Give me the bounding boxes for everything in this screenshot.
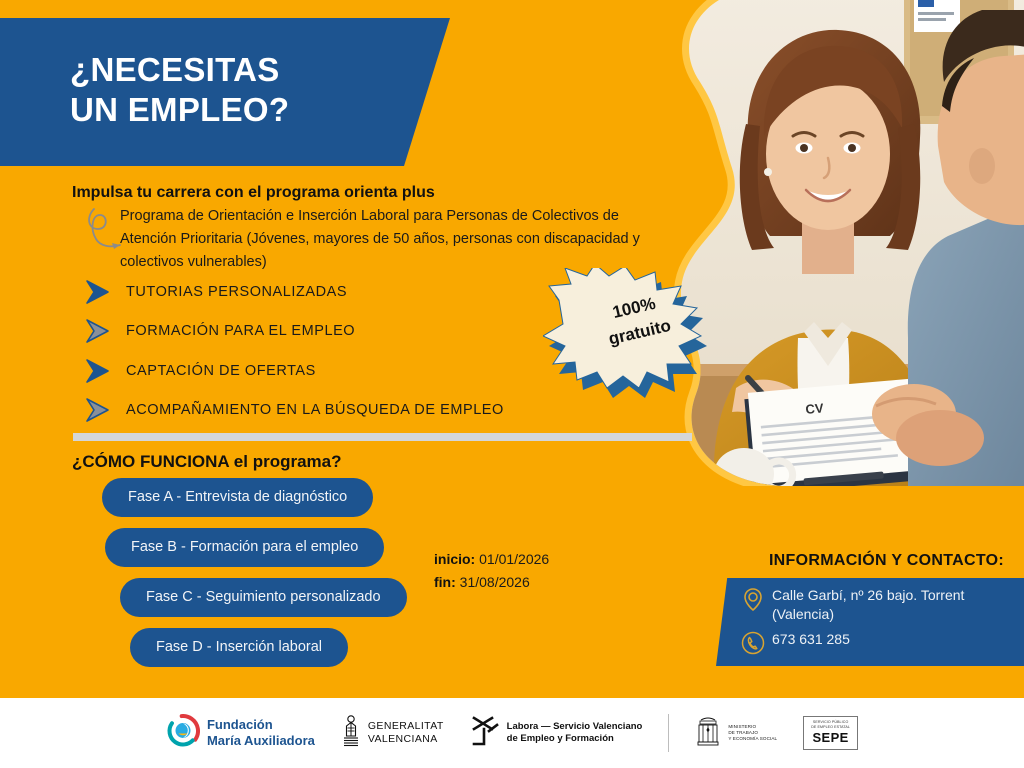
labora-label: Labora — Servicio Valenciano de Empleo y…: [507, 721, 643, 745]
address-row: Calle Garbí, nº 26 bajo. Torrent (Valenc…: [738, 586, 1018, 624]
logo-fundacion-maria-auxiliadora: Fundación María Auxiliadora: [166, 714, 315, 753]
chevron-right-icon: [84, 358, 118, 384]
feature-item: TUTORIAS PERSONALIZADAS: [84, 272, 604, 312]
end-date-value: 31/08/2026: [460, 574, 530, 590]
end-date-row: fin: 31/08/2026: [434, 571, 549, 594]
program-dates: inicio: 01/01/2026 fin: 31/08/2026: [434, 548, 549, 593]
chevron-right-icon: [84, 397, 118, 423]
feature-item: CAPTACIÓN DE OFERTAS: [84, 351, 604, 391]
feature-list: TUTORIAS PERSONALIZADAS FORMACIÓN PARA E…: [84, 272, 604, 430]
phase-pill-c[interactable]: Fase C - Seguimiento personalizado: [120, 578, 407, 617]
feature-label: CAPTACIÓN DE OFERTAS: [126, 363, 316, 379]
feature-item: ACOMPAÑAMIENTO EN LA BÚSQUEDA DE EMPLEO: [84, 391, 604, 431]
phone-text: 673 631 285: [772, 630, 850, 649]
logo-ministerio: MINISTERIO DE TRABAJO Y ECONOMÍA SOCIAL: [695, 714, 777, 753]
generalitat-label: GENERALITAT VALENCIANA: [368, 720, 444, 746]
feature-label: FORMACIÓN PARA EL EMPLEO: [126, 323, 355, 339]
ministerio-label: MINISTERIO DE TRABAJO Y ECONOMÍA SOCIAL: [728, 724, 777, 742]
phase-pill-a[interactable]: Fase A - Entrevista de diagnóstico: [102, 478, 373, 517]
chevron-right-icon: [84, 318, 118, 344]
how-it-works-title: ¿CÓMO FUNCIONA el programa?: [72, 452, 342, 472]
page-title: ¿NECESITAS UN EMPLEO?: [70, 50, 289, 131]
feature-item: FORMACIÓN PARA EL EMPLEO: [84, 312, 604, 352]
logo-sepe: SERVICIO PÚBLICO DE EMPLEO ESTATAL SEPE: [803, 716, 858, 751]
feature-label: ACOMPAÑAMIENTO EN LA BÚSQUEDA DE EMPLEO: [126, 402, 504, 418]
footer-divider: [668, 714, 669, 752]
feature-label: TUTORIAS PERSONALIZADAS: [126, 284, 347, 300]
ministerio-crest-icon: [695, 714, 721, 753]
chevron-right-icon: [84, 279, 118, 305]
phase-pill-b[interactable]: Fase B - Formación para el empleo: [105, 528, 384, 567]
section-divider: [73, 433, 692, 441]
fundacion-swirl-icon: [166, 714, 200, 753]
sepe-title: SEPE: [811, 730, 850, 745]
logo-labora: Labora — Servicio Valenciano de Empleo y…: [470, 714, 643, 753]
logo-generalitat-valenciana: GENERALITAT VALENCIANA: [341, 714, 444, 753]
start-date-value: 01/01/2026: [479, 551, 549, 567]
generalitat-crest-icon: [341, 714, 361, 753]
location-pin-icon: [738, 584, 768, 614]
phone-row[interactable]: 673 631 285: [738, 630, 1018, 658]
start-date-row: inicio: 01/01/2026: [434, 548, 549, 571]
svg-text:CV: CV: [805, 400, 825, 417]
phase-list: Fase A - Entrevista de diagnóstico Fase …: [0, 478, 407, 678]
contact-title: INFORMACIÓN Y CONTACTO:: [769, 552, 1004, 570]
phone-icon: [738, 628, 768, 658]
labora-mark-icon: [470, 714, 500, 753]
fundacion-label: Fundación María Auxiliadora: [207, 717, 315, 748]
end-date-label: fin:: [434, 574, 456, 590]
contact-details: Calle Garbí, nº 26 bajo. Torrent (Valenc…: [738, 586, 1018, 664]
lead-headline: Impulsa tu carrera con el programa orien…: [72, 184, 672, 202]
sepe-subtitle: SERVICIO PÚBLICO DE EMPLEO ESTATAL: [811, 720, 850, 730]
address-text: Calle Garbí, nº 26 bajo. Torrent (Valenc…: [772, 586, 1018, 624]
counseling-photo: CV: [652, 0, 1024, 486]
start-date-label: inicio:: [434, 551, 475, 567]
poster-canvas: CV: [0, 0, 1024, 768]
footer-logos: Fundación María Auxiliadora: [0, 698, 1024, 768]
program-description: Programa de Orientación e Inserción Labo…: [120, 205, 665, 274]
phase-pill-d[interactable]: Fase D - Inserción laboral: [130, 628, 348, 667]
